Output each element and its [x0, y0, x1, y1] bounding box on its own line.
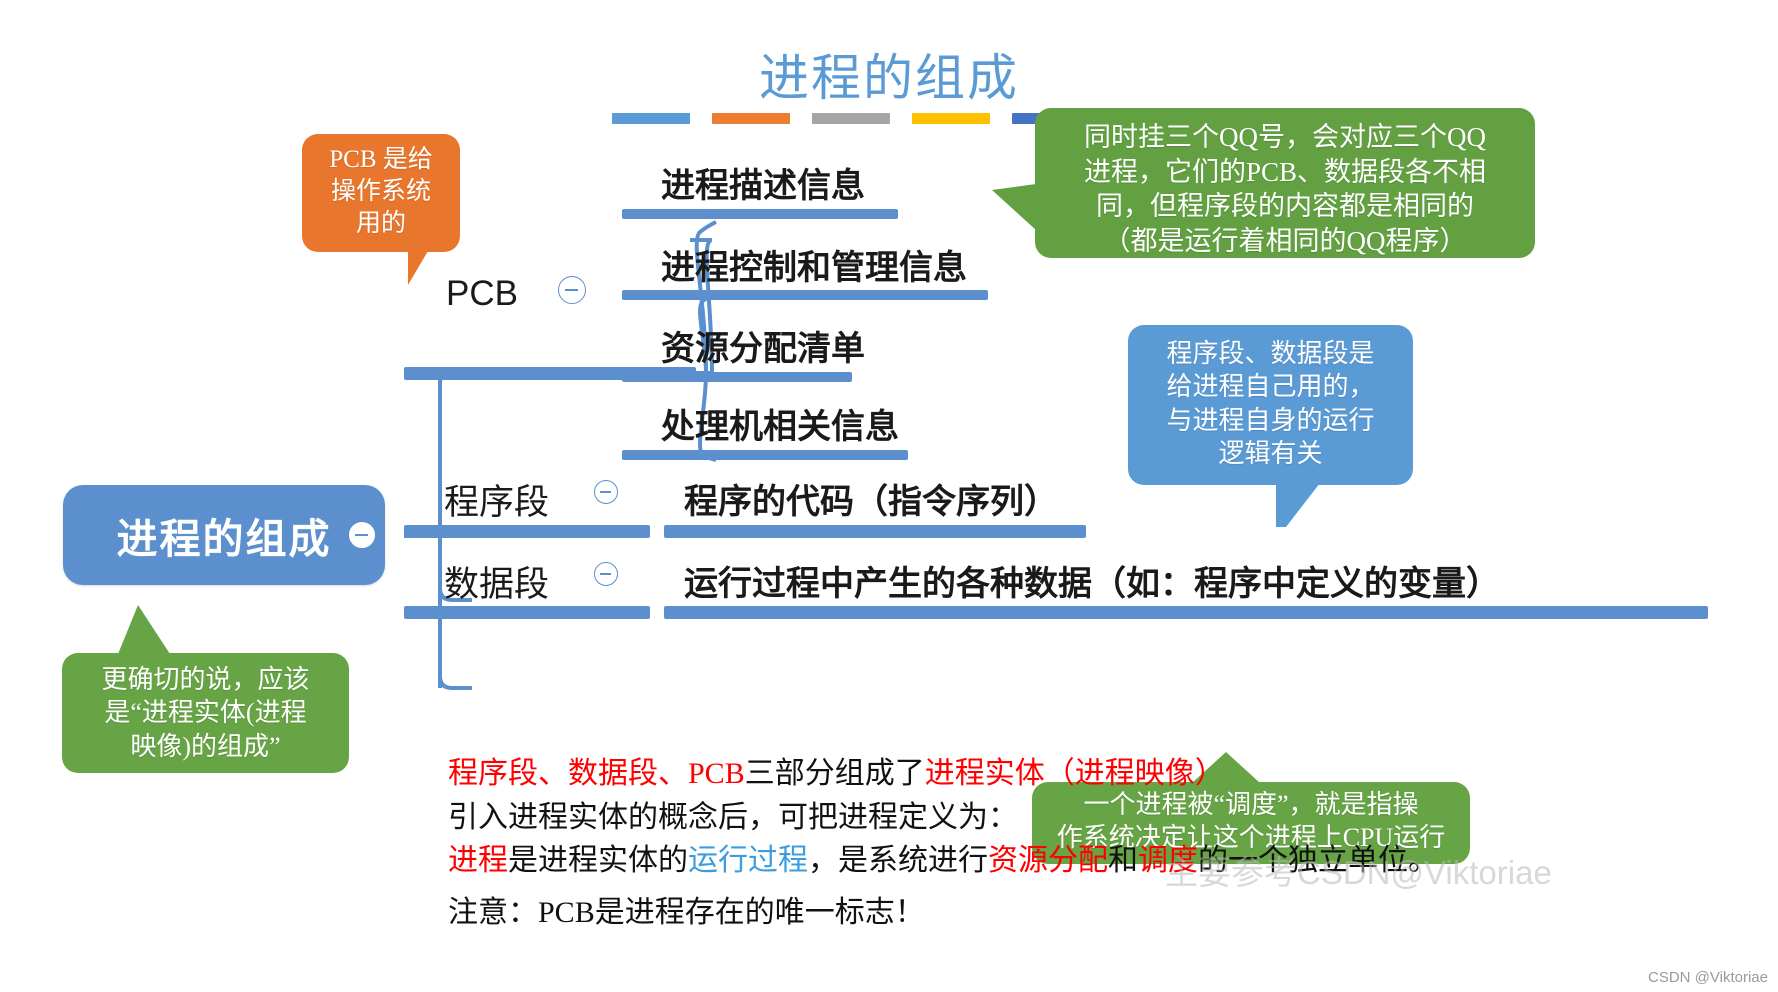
accent-bar-orange: [712, 113, 790, 124]
callout-process-entity: 更确切的说，应该 是“进程实体(进程 映像)的组成”: [62, 653, 349, 773]
mindmap-bar-pcb-child-3: [622, 372, 852, 382]
callout-pcb-line-3: 用的: [308, 208, 454, 240]
mindmap-node-data-segment-child[interactable]: 运行过程中产生的各种数据（如：程序中定义的变量）: [684, 556, 1500, 605]
summary-line-1: 程序段、数据段、PCB三部分组成了进程实体（进程映像）: [448, 752, 1438, 796]
callout-qq-tail: [992, 184, 1036, 230]
callout-qq-processes: 同时挂三个QQ号，会对应三个QQ 进程，它们的PCB、数据段各不相 同，但程序段…: [1035, 108, 1535, 258]
callout-pcb-for-os: PCB 是给 操作系统 用的: [302, 134, 460, 252]
callout-segments-tail: [1276, 483, 1320, 527]
summary-line-3-seg-5: 资源分配: [988, 844, 1108, 877]
mindmap-node-code-segment-child[interactable]: 程序的代码（指令序列）: [684, 474, 1058, 523]
summary-note: 注意：PCB是进程存在的唯一标志！: [448, 887, 925, 931]
mindmap-bar-pcb-child-4: [622, 450, 908, 460]
summary-line-3-seg-1: 进程: [448, 844, 508, 877]
mindmap-node-pcb[interactable]: PCB: [446, 274, 518, 314]
accent-bar-yellow: [912, 113, 990, 124]
collapse-toggle-root[interactable]: [348, 521, 376, 549]
callout-segments-line-1: 程序段、数据段是: [1138, 337, 1403, 370]
mindmap-node-data-segment[interactable]: 数据段: [444, 556, 549, 607]
callout-entity-line-3: 映像)的组成”: [70, 730, 341, 763]
summary-line-2: 引入进程实体的概念后，可把进程定义为：: [448, 796, 1438, 840]
mindmap-bar-data-segment-child: [664, 606, 1708, 619]
summary-line-3-seg-2: 是进程实体的: [508, 844, 688, 877]
callout-entity-tail: [118, 605, 170, 654]
summary-line-3-seg-6: 和: [1108, 844, 1138, 877]
mindmap-node-pcb-child-3[interactable]: 资源分配清单: [661, 321, 865, 370]
collapse-toggle-pcb[interactable]: [558, 276, 586, 304]
page-title: 进程的组成: [0, 38, 1778, 110]
mindmap-bar-code-segment-child: [664, 525, 1086, 538]
callout-entity-line-1: 更确切的说，应该: [70, 663, 341, 696]
mindmap-node-code-segment[interactable]: 程序段: [444, 474, 549, 525]
mindmap-root-label: 进程的组成: [117, 505, 332, 565]
mindmap-bar-code-segment: [404, 525, 650, 538]
mindmap-node-pcb-child-1[interactable]: 进程描述信息: [661, 158, 865, 207]
callout-segments-line-4: 逻辑有关: [1138, 437, 1403, 470]
mindmap-node-pcb-child-4[interactable]: 处理机相关信息: [661, 399, 899, 448]
watermark-main: 主要参考CSDN@Viktoriae: [1165, 846, 1552, 894]
summary-line-3-seg-3: 运行过程: [688, 844, 808, 877]
watermark-corner: CSDN @Viktoriae: [1648, 969, 1768, 986]
summary-line-3-seg-4: ，是系统进行: [808, 844, 988, 877]
callout-pcb-line-2: 操作系统: [308, 176, 454, 208]
callout-entity-line-2: 是“进程实体(进程: [70, 696, 341, 729]
mindmap-bar-pcb-child-2: [622, 290, 988, 300]
slide-canvas: 进程的组成: [0, 0, 1778, 992]
collapse-toggle-data-segment[interactable]: [594, 562, 618, 586]
accent-bar-gray: [812, 113, 890, 124]
summary-line-1-seg-3: 进程实体（进程映像）: [925, 757, 1225, 790]
summary-line-1-seg-2: 三部分组成了: [745, 757, 925, 790]
accent-bar-blue: [612, 113, 690, 124]
callout-qq-line-2: 进程，它们的PCB、数据段各不相: [1049, 155, 1521, 190]
collapse-toggle-code-segment[interactable]: [594, 480, 618, 504]
callout-qq-line-3: 同，但程序段的内容都是相同的: [1049, 189, 1521, 224]
callout-pcb-tail: [408, 251, 436, 285]
mindmap-bar-pcb-child-1: [622, 209, 898, 219]
callout-pcb-line-1: PCB 是给: [308, 144, 454, 176]
callout-qq-line-4: （都是运行着相同的QQ程序）: [1049, 224, 1521, 259]
mindmap-node-pcb-child-2[interactable]: 进程控制和管理信息: [661, 240, 967, 289]
mindmap-bar-data-segment: [404, 606, 650, 619]
callout-segments-for-process: 程序段、数据段是 给进程自己用的， 与进程自身的运行 逻辑有关: [1128, 325, 1413, 485]
callout-segments-line-3: 与进程自身的运行: [1138, 404, 1403, 437]
callout-segments-line-2: 给进程自己用的，: [1138, 370, 1403, 403]
callout-qq-line-1: 同时挂三个QQ号，会对应三个QQ: [1049, 120, 1521, 155]
mindmap-root-node[interactable]: 进程的组成: [63, 485, 385, 585]
summary-line-1-seg-1: 程序段、数据段、PCB: [448, 757, 745, 790]
